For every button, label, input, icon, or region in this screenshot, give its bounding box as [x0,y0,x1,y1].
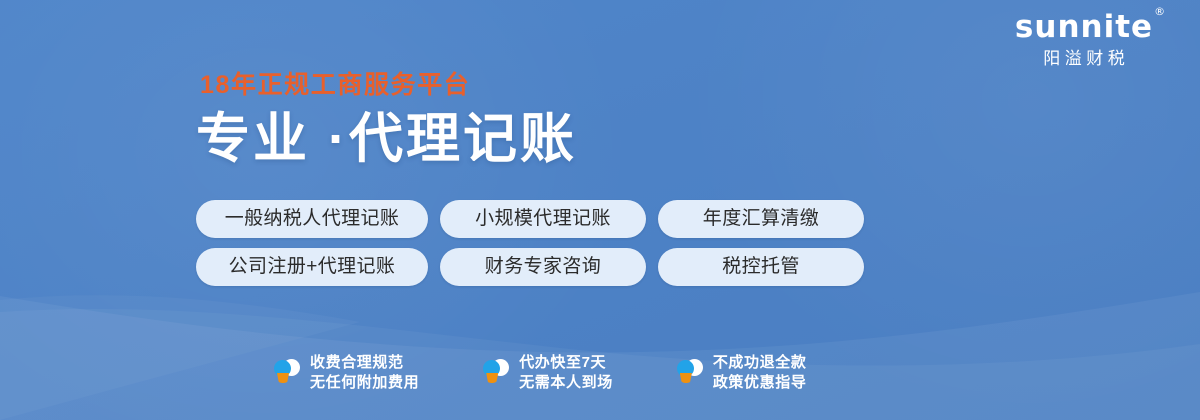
service-pill-tax-control-hosting[interactable]: 税控托管 [658,248,864,286]
promo-banner: sunnite ® 阳溢财税 18年正规工商服务平台 专业 ·代理记账 一般纳税… [0,0,1200,420]
service-pill-company-registration[interactable]: 公司注册+代理记账 [196,248,428,286]
feature-line-1: 收费合理规范 [310,353,419,373]
feature-item: 收费合理规范 无任何附加费用 [274,353,419,393]
feature-text: 代办快至7天 无需本人到场 [519,353,613,393]
feature-line-2: 政策优惠指导 [713,373,807,393]
hero-headline: 专业 ·代理记账 [196,108,936,170]
feature-text: 收费合理规范 无任何附加费用 [310,353,419,393]
service-pill-general-taxpayer[interactable]: 一般纳税人代理记账 [196,200,428,238]
service-pill-finance-consulting[interactable]: 财务专家咨询 [440,248,646,286]
service-pill-small-scale[interactable]: 小规模代理记账 [440,200,646,238]
logo-wordmark: sunnite ® [1015,8,1153,46]
badge-icon [677,358,703,388]
registered-trademark-icon: ® [1154,6,1166,17]
feature-item: 不成功退全款 政策优惠指导 [677,353,807,393]
badge-icon [483,358,509,388]
feature-item: 代办快至7天 无需本人到场 [483,353,613,393]
hero-eyebrow: 18年正规工商服务平台 [200,70,936,100]
feature-line-2: 无需本人到场 [519,373,613,393]
brand-logo: sunnite ® 阳溢财税 [996,8,1172,70]
service-pill-row: 一般纳税人代理记账 小规模代理记账 年度汇算清缴 [196,200,864,238]
hero-copy: 18年正规工商服务平台 专业 ·代理记账 [196,70,936,170]
service-pill-annual-settlement[interactable]: 年度汇算清缴 [658,200,864,238]
badge-icon-base [486,373,498,383]
feature-line-2: 无任何附加费用 [310,373,419,393]
badge-icon-base [680,373,692,383]
logo-chinese-name: 阳溢财税 [996,48,1172,70]
service-pill-row: 公司注册+代理记账 财务专家咨询 税控托管 [196,248,864,286]
badge-icon [274,358,300,388]
logo-wordmark-text: sunnite [1015,9,1153,45]
badge-icon-base [277,373,289,383]
service-pill-grid: 一般纳税人代理记账 小规模代理记账 年度汇算清缴 公司注册+代理记账 财务专家咨… [196,200,864,286]
feature-line-1: 不成功退全款 [713,353,807,373]
feature-text: 不成功退全款 政策优惠指导 [713,353,807,393]
feature-strip: 收费合理规范 无任何附加费用 代办快至7天 无需本人到场 不成功退全款 [274,353,806,393]
feature-line-1: 代办快至7天 [519,353,613,373]
